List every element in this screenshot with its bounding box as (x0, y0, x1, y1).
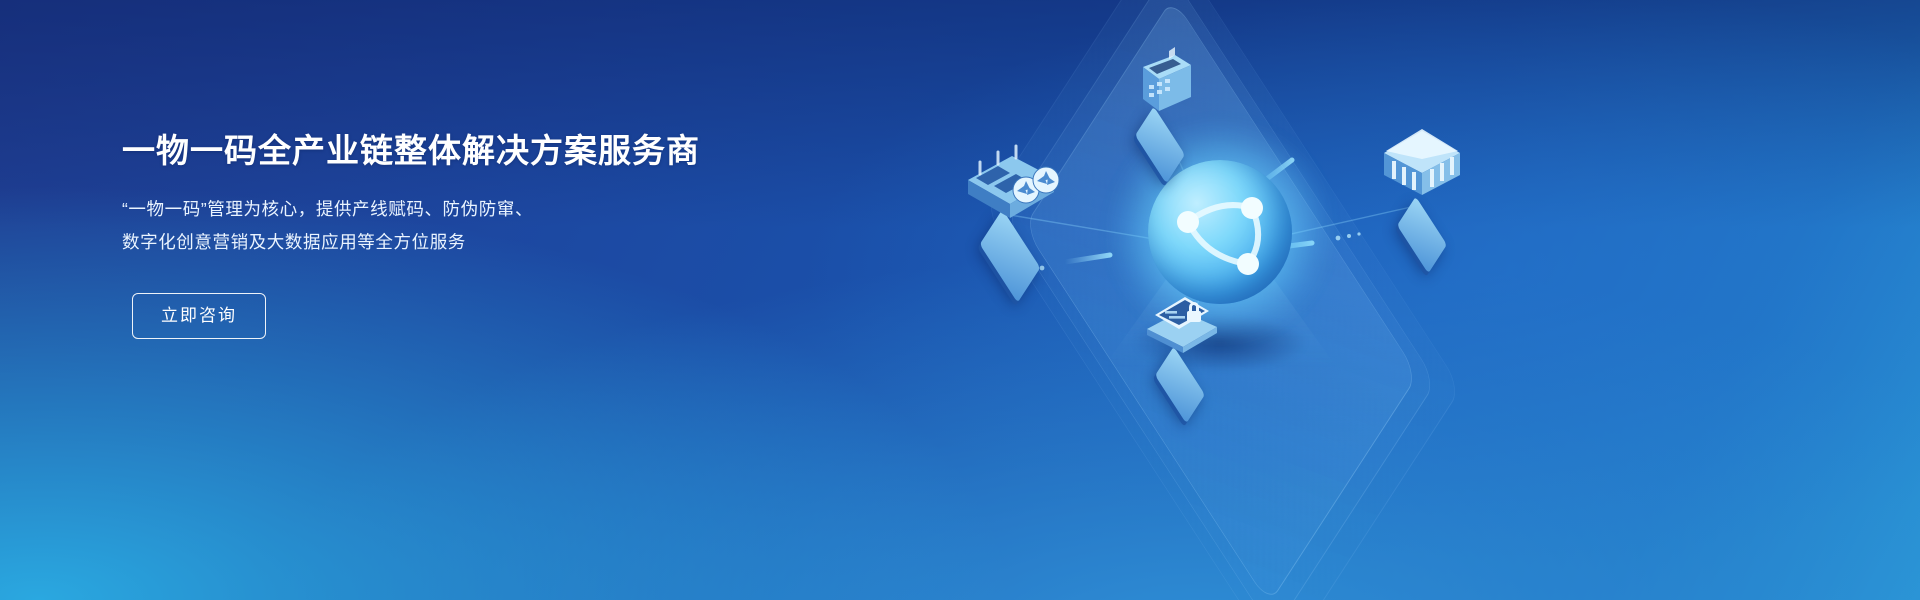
laptop-secure-icon (1125, 275, 1235, 366)
subtitle-line-1: “一物一码”管理为核心，提供产线赋码、防伪防窜、 (122, 193, 882, 226)
bank-building-icon (1374, 117, 1470, 214)
hero-banner: 一物一码全产业链整体解决方案服务商 “一物一码”管理为核心，提供产线赋码、防伪防… (0, 0, 1920, 600)
pos-terminal-icon (1123, 33, 1197, 124)
hero-subtitle: “一物一码”管理为核心，提供产线赋码、防伪防窜、 数字化创意营销及大数据应用等全… (122, 193, 882, 259)
isometric-illustration (860, 0, 1580, 600)
page-title: 一物一码全产业链整体解决方案服务商 (122, 130, 882, 171)
hero-content: 一物一码全产业链整体解决方案服务商 “一物一码”管理为核心，提供产线赋码、防伪防… (122, 130, 882, 339)
subtitle-line-2: 数字化创意营销及大数据应用等全方位服务 (122, 226, 882, 259)
server-rack-icon (950, 134, 1070, 231)
consult-now-button[interactable]: 立即咨询 (132, 293, 266, 339)
